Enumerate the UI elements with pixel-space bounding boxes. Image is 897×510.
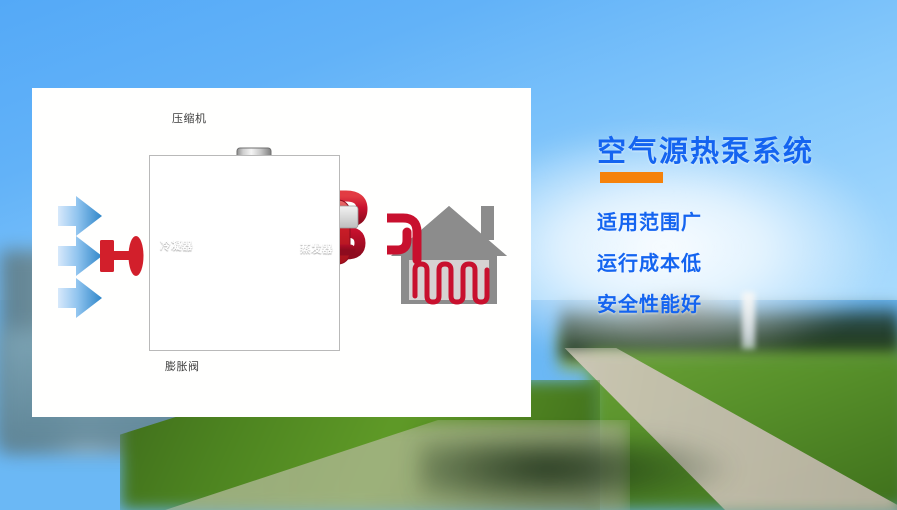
page-title: 空气源热泵系统 (597, 128, 814, 170)
air-flow-arrow-bottom (58, 278, 102, 318)
house-icon (387, 198, 527, 328)
slide-canvas: 压缩机 膨胀阀 冷凝器 蒸发器 空气源热泵系统 适用范围广 运行成本低 安全性能… (0, 0, 897, 510)
air-flow-arrow-middle (58, 236, 102, 276)
feature-item-2: 运行成本低 (597, 247, 702, 276)
background-foreground-shadow (420, 440, 740, 510)
diagram-card: 压缩机 膨胀阀 冷凝器 蒸发器 (32, 88, 531, 417)
air-flow-arrow-top (58, 196, 102, 236)
title-underline-accent (600, 172, 663, 183)
feature-item-3: 安全性能好 (597, 288, 702, 317)
fan-icon (100, 236, 144, 276)
label-condenser: 冷凝器 (160, 238, 193, 253)
label-compressor: 压缩机 (172, 110, 207, 126)
label-evaporator: 蒸发器 (300, 241, 333, 256)
label-expansion-valve: 膨胀阀 (165, 358, 200, 374)
feature-item-1: 适用范围广 (597, 206, 702, 235)
